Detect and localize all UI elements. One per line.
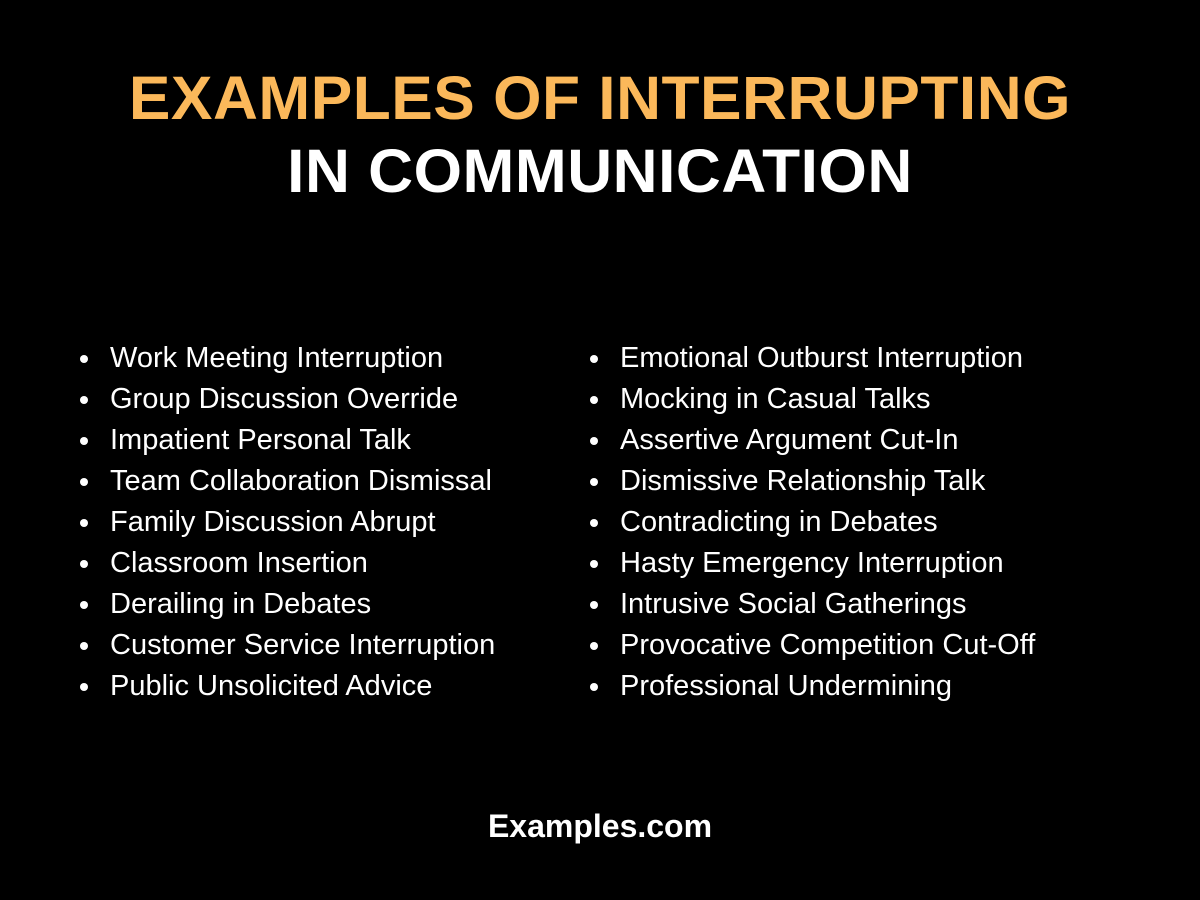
list-item-label: Group Discussion Override [110, 383, 458, 415]
list-item-label: Impatient Personal Talk [110, 424, 411, 456]
bullet-icon [590, 396, 598, 404]
bullet-icon [590, 683, 598, 691]
bullet-icon [80, 396, 88, 404]
list-column-right: Emotional Outburst Interruption Mocking … [545, 338, 1105, 707]
bullet-icon [590, 355, 598, 363]
list-item: Work Meeting Interruption [78, 338, 545, 379]
list-item: Family Discussion Abrupt [78, 502, 545, 543]
list-item-label: Team Collaboration Dismissal [110, 465, 492, 497]
list-item: Provocative Competition Cut-Off [588, 625, 1105, 666]
page-title-line-1: EXAMPLES OF INTERRUPTING [0, 68, 1200, 129]
bullet-icon [590, 437, 598, 445]
page-title: EXAMPLES OF INTERRUPTING IN COMMUNICATIO… [0, 0, 1200, 202]
footer: Examples.com [0, 808, 1200, 845]
example-list-left: Work Meeting Interruption Group Discussi… [78, 338, 545, 707]
list-item-label: Hasty Emergency Interruption [620, 547, 1004, 579]
bullet-icon [80, 560, 88, 568]
list-item: Hasty Emergency Interruption [588, 543, 1105, 584]
examples-list-region: Work Meeting Interruption Group Discussi… [0, 338, 1200, 707]
list-item: Professional Undermining [588, 666, 1105, 707]
list-item: Impatient Personal Talk [78, 420, 545, 461]
list-item-label: Intrusive Social Gatherings [620, 588, 967, 620]
bullet-icon [80, 355, 88, 363]
list-item-label: Professional Undermining [620, 670, 952, 702]
list-item: Emotional Outburst Interruption [588, 338, 1105, 379]
brand-wordmark: Examples.com [488, 808, 712, 845]
list-item-label: Family Discussion Abrupt [110, 506, 436, 538]
list-item-label: Contradicting in Debates [620, 506, 938, 538]
list-item: Mocking in Casual Talks [588, 379, 1105, 420]
poster-canvas: EXAMPLES OF INTERRUPTING IN COMMUNICATIO… [0, 0, 1200, 900]
list-item: Dismissive Relationship Talk [588, 461, 1105, 502]
bullet-icon [80, 478, 88, 486]
list-item: Assertive Argument Cut-In [588, 420, 1105, 461]
list-item: Derailing in Debates [78, 584, 545, 625]
list-item-label: Provocative Competition Cut-Off [620, 629, 1035, 661]
page-title-line-2: IN COMMUNICATION [0, 141, 1200, 202]
list-item-label: Assertive Argument Cut-In [620, 424, 958, 456]
list-item: Customer Service Interruption [78, 625, 545, 666]
list-item: Contradicting in Debates [588, 502, 1105, 543]
list-item-label: Classroom Insertion [110, 547, 368, 579]
list-item-label: Emotional Outburst Interruption [620, 342, 1023, 374]
bullet-icon [590, 642, 598, 650]
list-item: Group Discussion Override [78, 379, 545, 420]
list-item: Classroom Insertion [78, 543, 545, 584]
bullet-icon [80, 642, 88, 650]
bullet-icon [80, 601, 88, 609]
list-item: Public Unsolicited Advice [78, 666, 545, 707]
bullet-icon [590, 601, 598, 609]
bullet-icon [590, 478, 598, 486]
list-item-label: Mocking in Casual Talks [620, 383, 931, 415]
bullet-icon [80, 683, 88, 691]
list-column-left: Work Meeting Interruption Group Discussi… [0, 338, 545, 707]
list-item: Intrusive Social Gatherings [588, 584, 1105, 625]
list-item-label: Dismissive Relationship Talk [620, 465, 985, 497]
example-list-right: Emotional Outburst Interruption Mocking … [588, 338, 1105, 707]
list-item-label: Derailing in Debates [110, 588, 371, 620]
list-item: Team Collaboration Dismissal [78, 461, 545, 502]
bullet-icon [80, 437, 88, 445]
bullet-icon [590, 560, 598, 568]
list-item-label: Customer Service Interruption [110, 629, 495, 661]
bullet-icon [80, 519, 88, 527]
bullet-icon [590, 519, 598, 527]
list-item-label: Work Meeting Interruption [110, 342, 443, 374]
list-item-label: Public Unsolicited Advice [110, 670, 432, 702]
